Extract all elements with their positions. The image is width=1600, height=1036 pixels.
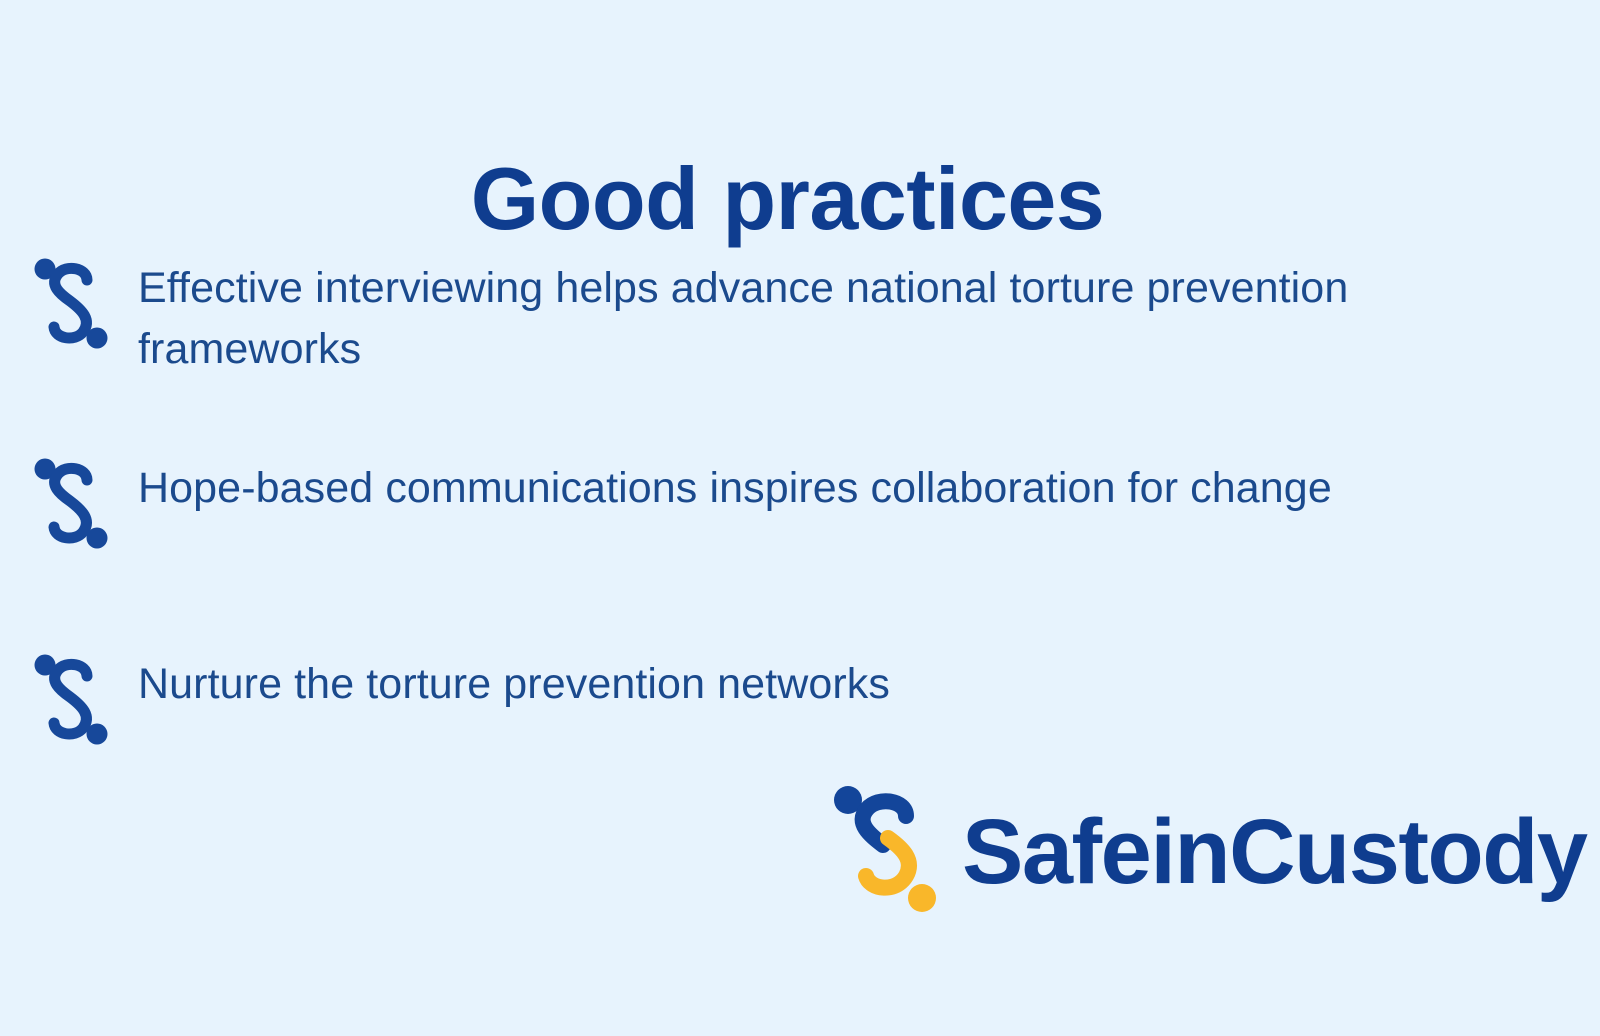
- list-item-label: Nurture the torture prevention networks: [138, 646, 890, 715]
- safeincustody-s-mark-icon: [30, 454, 112, 550]
- list-item: Hope-based communications inspires colla…: [30, 450, 1332, 546]
- list-item: Effective interviewing helps advance nat…: [30, 250, 1358, 380]
- list-item-label: Effective interviewing helps advance nat…: [138, 250, 1358, 380]
- safeincustody-s-mark-icon: [30, 650, 112, 746]
- slide-canvas: Good practices Effective interviewing he…: [0, 0, 1600, 1036]
- list-item-label: Hope-based communications inspires colla…: [138, 450, 1332, 519]
- safeincustody-logo: SafeinCustody: [826, 778, 1587, 918]
- safeincustody-logo-mark-icon: [826, 778, 944, 918]
- list-item: Nurture the torture prevention networks: [30, 646, 890, 742]
- safeincustody-s-mark-icon: [30, 254, 112, 350]
- page-title: Good practices: [0, 155, 1575, 243]
- logo-wordmark: SafeinCustody: [962, 806, 1587, 898]
